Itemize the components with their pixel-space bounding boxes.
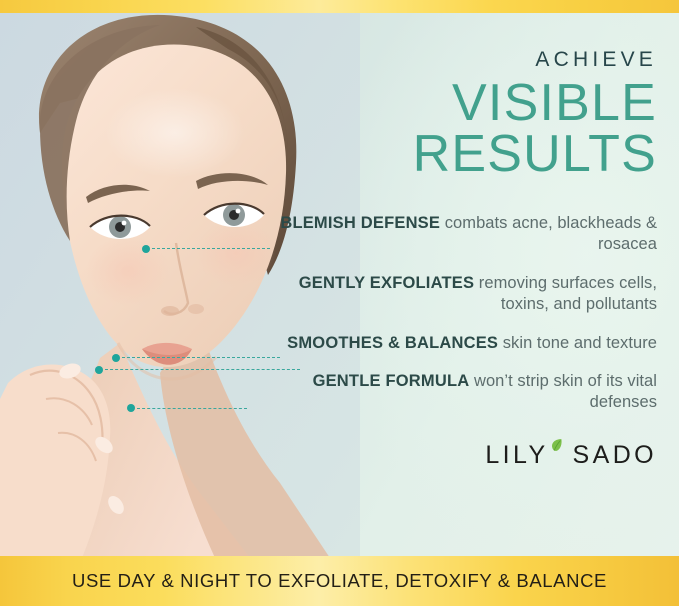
headline-kicker: ACHIEVE (247, 49, 657, 70)
connector-line-3 (95, 369, 300, 371)
benefit-text-2: GENTLY EXFOLIATES removing surfaces cell… (247, 273, 657, 315)
headline-block: ACHIEVE VISIBLE RESULTS (247, 49, 657, 179)
connector-dash (152, 248, 270, 249)
benefit-text-1: BLEMISH DEFENSE combats acne, blackheads… (247, 213, 657, 255)
connector-line-4 (127, 407, 247, 409)
connector-dot-icon (142, 245, 150, 253)
connector-dash (122, 357, 280, 358)
connector-dash (105, 369, 300, 370)
headline-line-2: RESULTS (247, 130, 657, 178)
benefits-list: BLEMISH DEFENSE combats acne, blackheads… (247, 213, 657, 414)
product-ad-card: ACHIEVE VISIBLE RESULTS BLEMISH DEFENSE … (0, 0, 679, 606)
benefit-lead-4: GENTLE FORMULA (313, 372, 470, 390)
headline-line-1: VISIBLE (247, 79, 657, 127)
benefit-item-smoothes-balances: SMOOTHES & BALANCES skin tone and textur… (247, 333, 657, 354)
benefit-item-gently-exfoliates: GENTLY EXFOLIATES removing surfaces cell… (247, 273, 657, 315)
benefit-text-4: GENTLE FORMULA won’t strip skin of its v… (247, 371, 657, 413)
connector-dot-icon (95, 366, 103, 374)
benefit-rest-1: combats acne, blackheads & rosacea (440, 214, 657, 253)
benefit-rest-4: won’t strip skin of its vital defenses (469, 372, 657, 411)
connector-line-2 (112, 357, 280, 359)
benefit-rest-2: removing surfaces cells, toxins, and pol… (474, 274, 657, 313)
benefit-lead-2: GENTLY EXFOLIATES (299, 274, 474, 292)
connector-dot-icon (112, 354, 120, 362)
benefit-lead-3: SMOOTHES & BALANCES (287, 334, 498, 352)
benefit-rest-3: skin tone and texture (498, 334, 657, 352)
content-column: ACHIEVE VISIBLE RESULTS BLEMISH DEFENSE … (247, 13, 657, 558)
logo-word-lily: LILY (485, 443, 548, 468)
connector-line-1 (142, 248, 270, 250)
logo-word-sado: SADO (573, 443, 657, 468)
benefit-lead-1: BLEMISH DEFENSE (280, 214, 440, 232)
connector-dash (137, 408, 247, 409)
benefit-item-gentle-formula: GENTLE FORMULA won’t strip skin of its v… (247, 371, 657, 413)
top-accent-strip (0, 0, 679, 13)
bottom-banner: USE DAY & NIGHT TO EXFOLIATE, DETOXIFY &… (0, 556, 679, 606)
banner-text: USE DAY & NIGHT TO EXFOLIATE, DETOXIFY &… (72, 570, 607, 592)
brand-logo: LILY SADO (247, 443, 657, 468)
benefit-item-blemish-defense: BLEMISH DEFENSE combats acne, blackheads… (247, 213, 657, 255)
leaf-icon (549, 438, 563, 459)
benefit-text-3: SMOOTHES & BALANCES skin tone and textur… (247, 333, 657, 354)
